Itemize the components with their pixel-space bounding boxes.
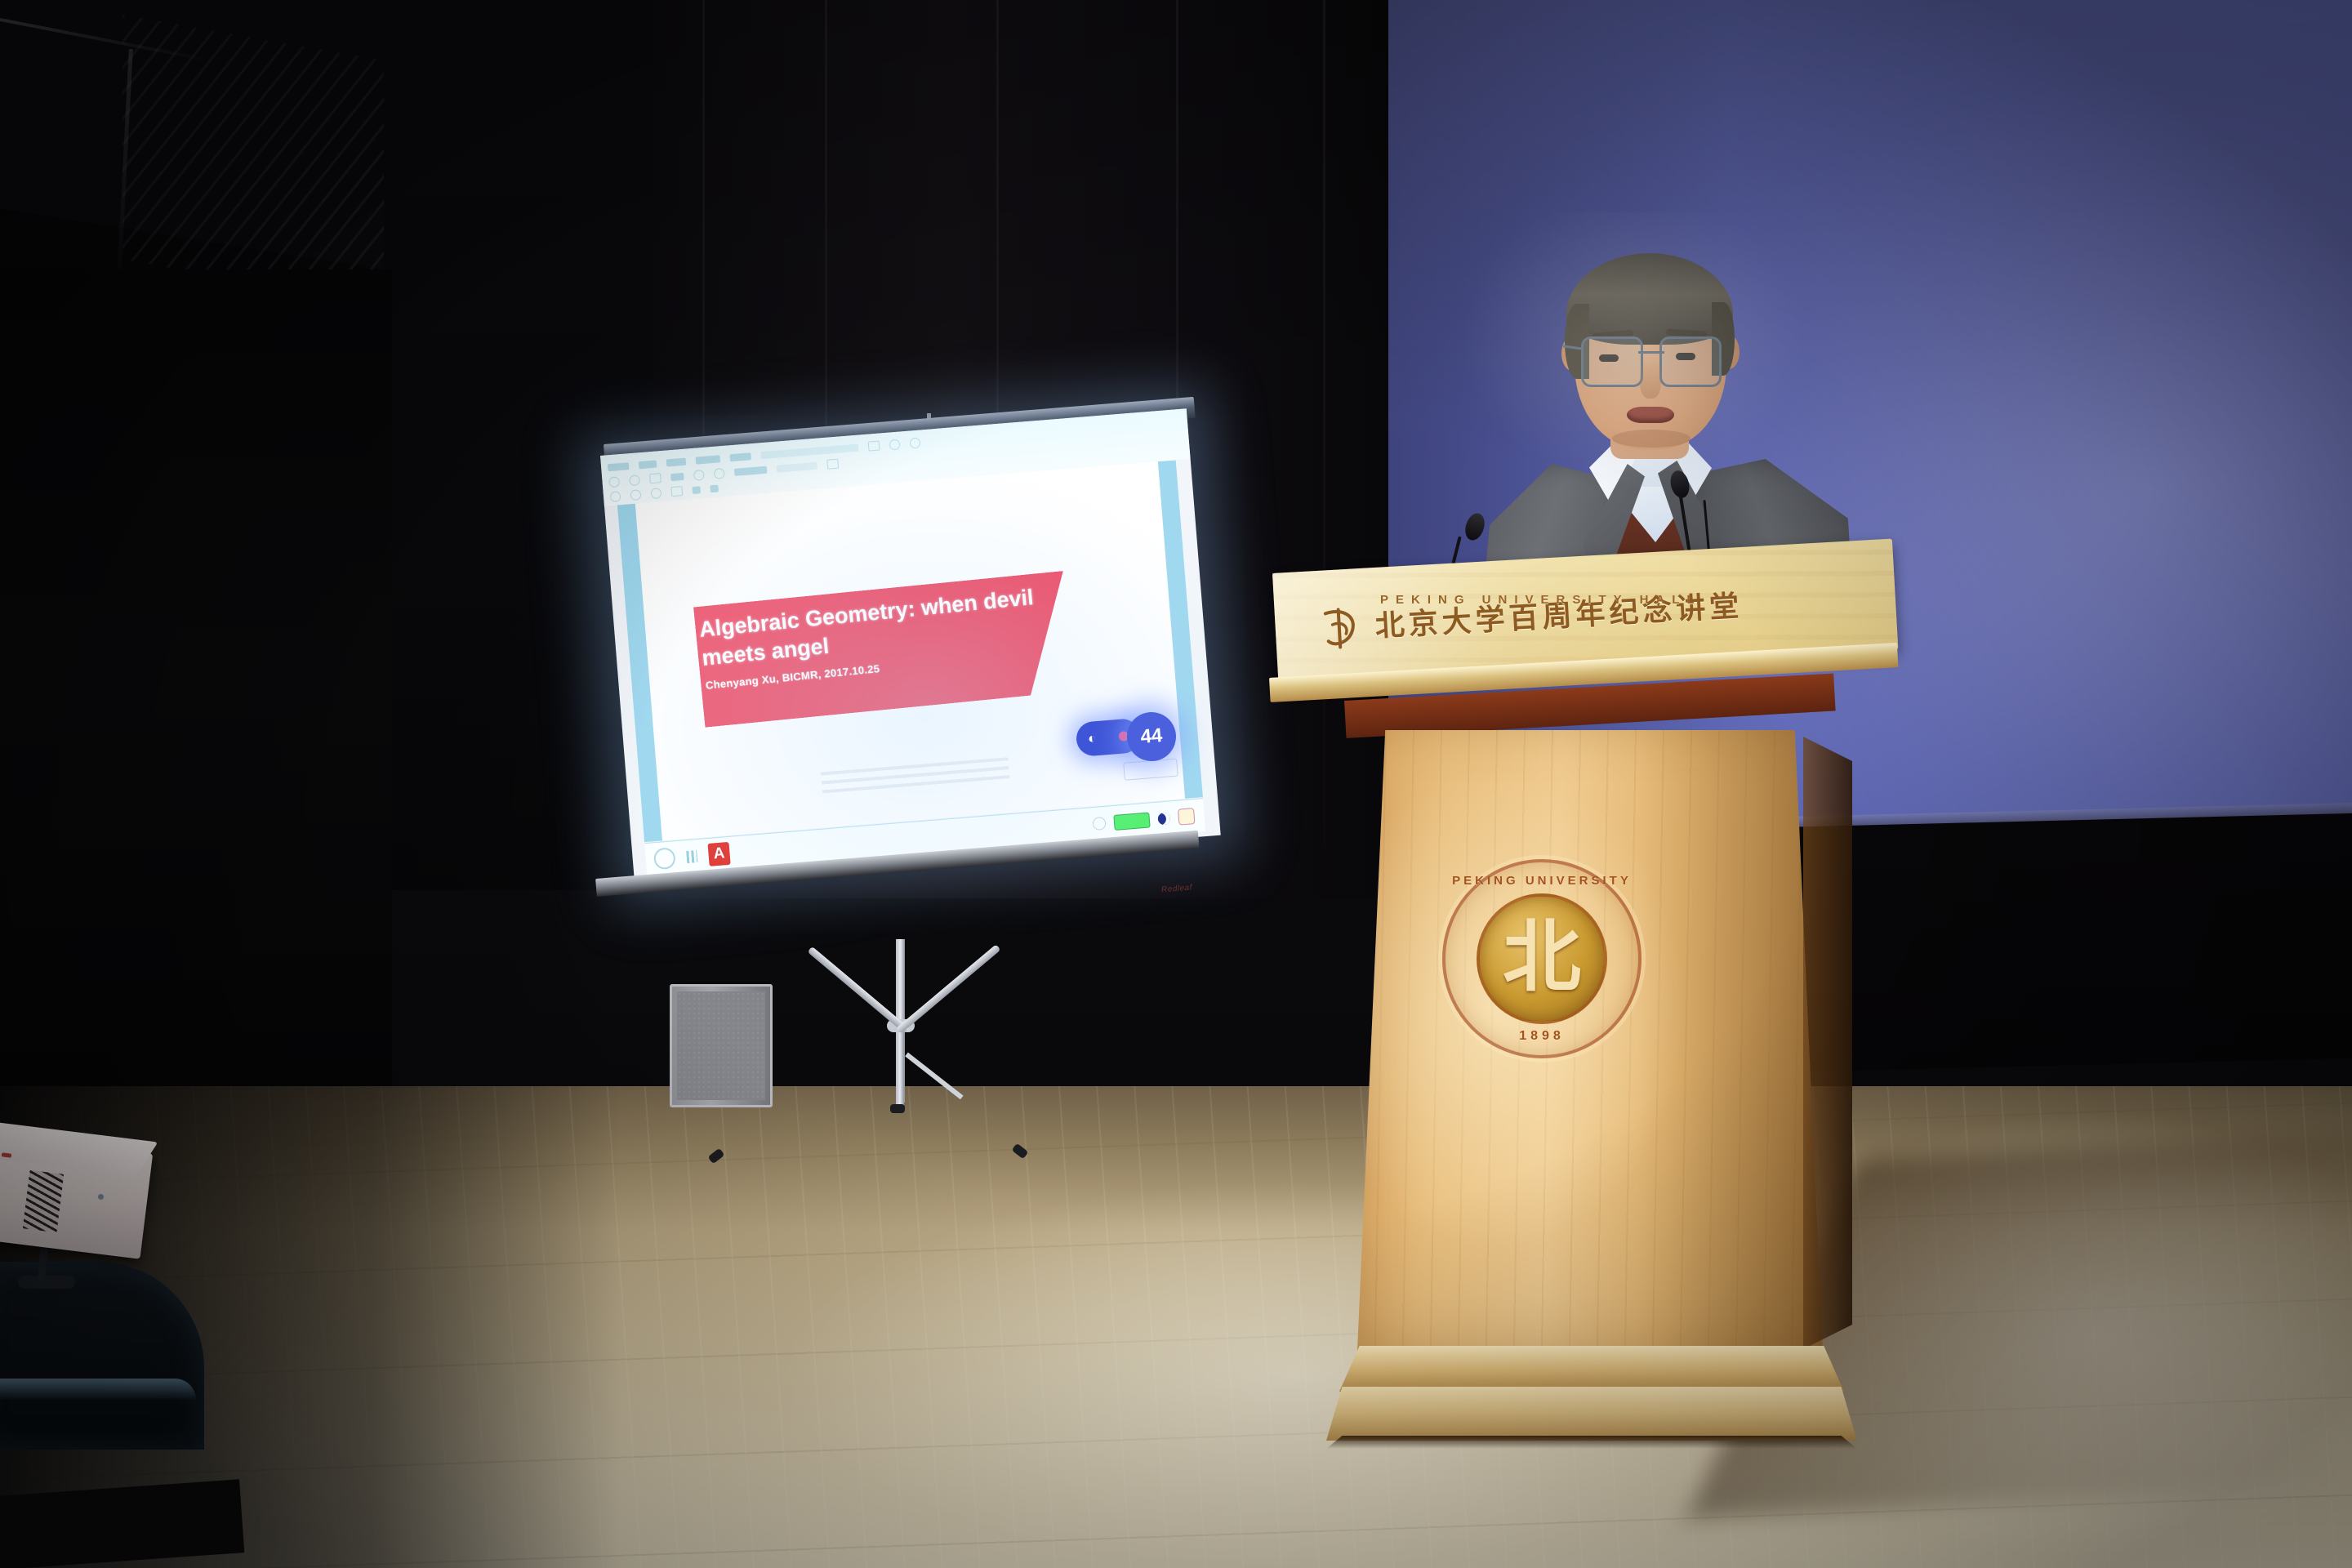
peking-university-seal: PEKING UNIVERSITY 北 1898 — [1442, 859, 1641, 1058]
projector-vent-grille — [23, 1170, 64, 1233]
lectern-base-shadow — [1326, 1436, 1857, 1449]
hair — [1566, 253, 1733, 345]
peking-university-monogram-icon — [1316, 604, 1363, 653]
lens-right — [1659, 336, 1722, 387]
task-bars-icon[interactable] — [686, 850, 697, 863]
wall-panel-left — [0, 269, 392, 1094]
adobe-acrobat-icon[interactable]: A — [708, 842, 731, 866]
tooltip-box — [1123, 759, 1178, 781]
lectern: PEKING UNIVERSITY 北 1898 北京大学百周年纪念讲堂 PEK… — [1258, 555, 1944, 1503]
mouth — [1627, 407, 1674, 423]
speaker-grille — [677, 991, 765, 1100]
start-orb-icon[interactable] — [653, 847, 676, 870]
pdf-document-canvas[interactable]: Algebraic Geometry: when devil meets ang… — [617, 461, 1203, 843]
nose — [1640, 359, 1661, 399]
seal-center-glyph: 北 — [1503, 918, 1581, 996]
tray-badge-icon[interactable] — [1178, 808, 1196, 826]
lectern-side-panel — [1803, 737, 1852, 1349]
slide-footer-text — [821, 757, 1009, 793]
stage-front-edge — [0, 1479, 244, 1568]
moon-icon[interactable] — [1157, 812, 1170, 825]
chin-shadow — [1612, 430, 1690, 448]
projector-table-edge — [0, 1379, 196, 1400]
lectern-base-moulding-upper — [1339, 1346, 1844, 1392]
projection-screen: Algebraic Geometry: when devil meets ang… — [600, 384, 1229, 955]
seal-top-text: PEKING UNIVERSITY — [1445, 874, 1638, 888]
wifi-icon: ◐ — [1087, 731, 1097, 746]
system-tray[interactable] — [1092, 807, 1205, 832]
screen-brand-label: Redleaf — [1161, 883, 1193, 894]
projected-image-area: Algebraic Geometry: when devil meets ang… — [600, 408, 1221, 882]
lens-left — [1581, 336, 1643, 387]
projector-sensor-dot — [98, 1194, 104, 1200]
lectern-base-moulding-lower — [1326, 1387, 1857, 1441]
slide-page: Algebraic Geometry: when devil meets ang… — [635, 461, 1185, 840]
tripod-center-leg — [896, 1025, 904, 1111]
glasses-bridge — [1638, 351, 1664, 354]
seal-year-text: 1898 — [1445, 1029, 1638, 1044]
battery-icon[interactable] — [1113, 812, 1150, 830]
tripod-foot-center — [890, 1104, 905, 1113]
clock-icon[interactable] — [1092, 817, 1106, 831]
stage-monitor-speaker — [670, 984, 773, 1107]
lectern-name-english: PEKING UNIVERSITY HALL — [1380, 593, 1702, 607]
projector-stand-base — [18, 1276, 75, 1289]
lecture-hall-photo: Algebraic Geometry: when devil meets ang… — [0, 0, 2352, 1568]
